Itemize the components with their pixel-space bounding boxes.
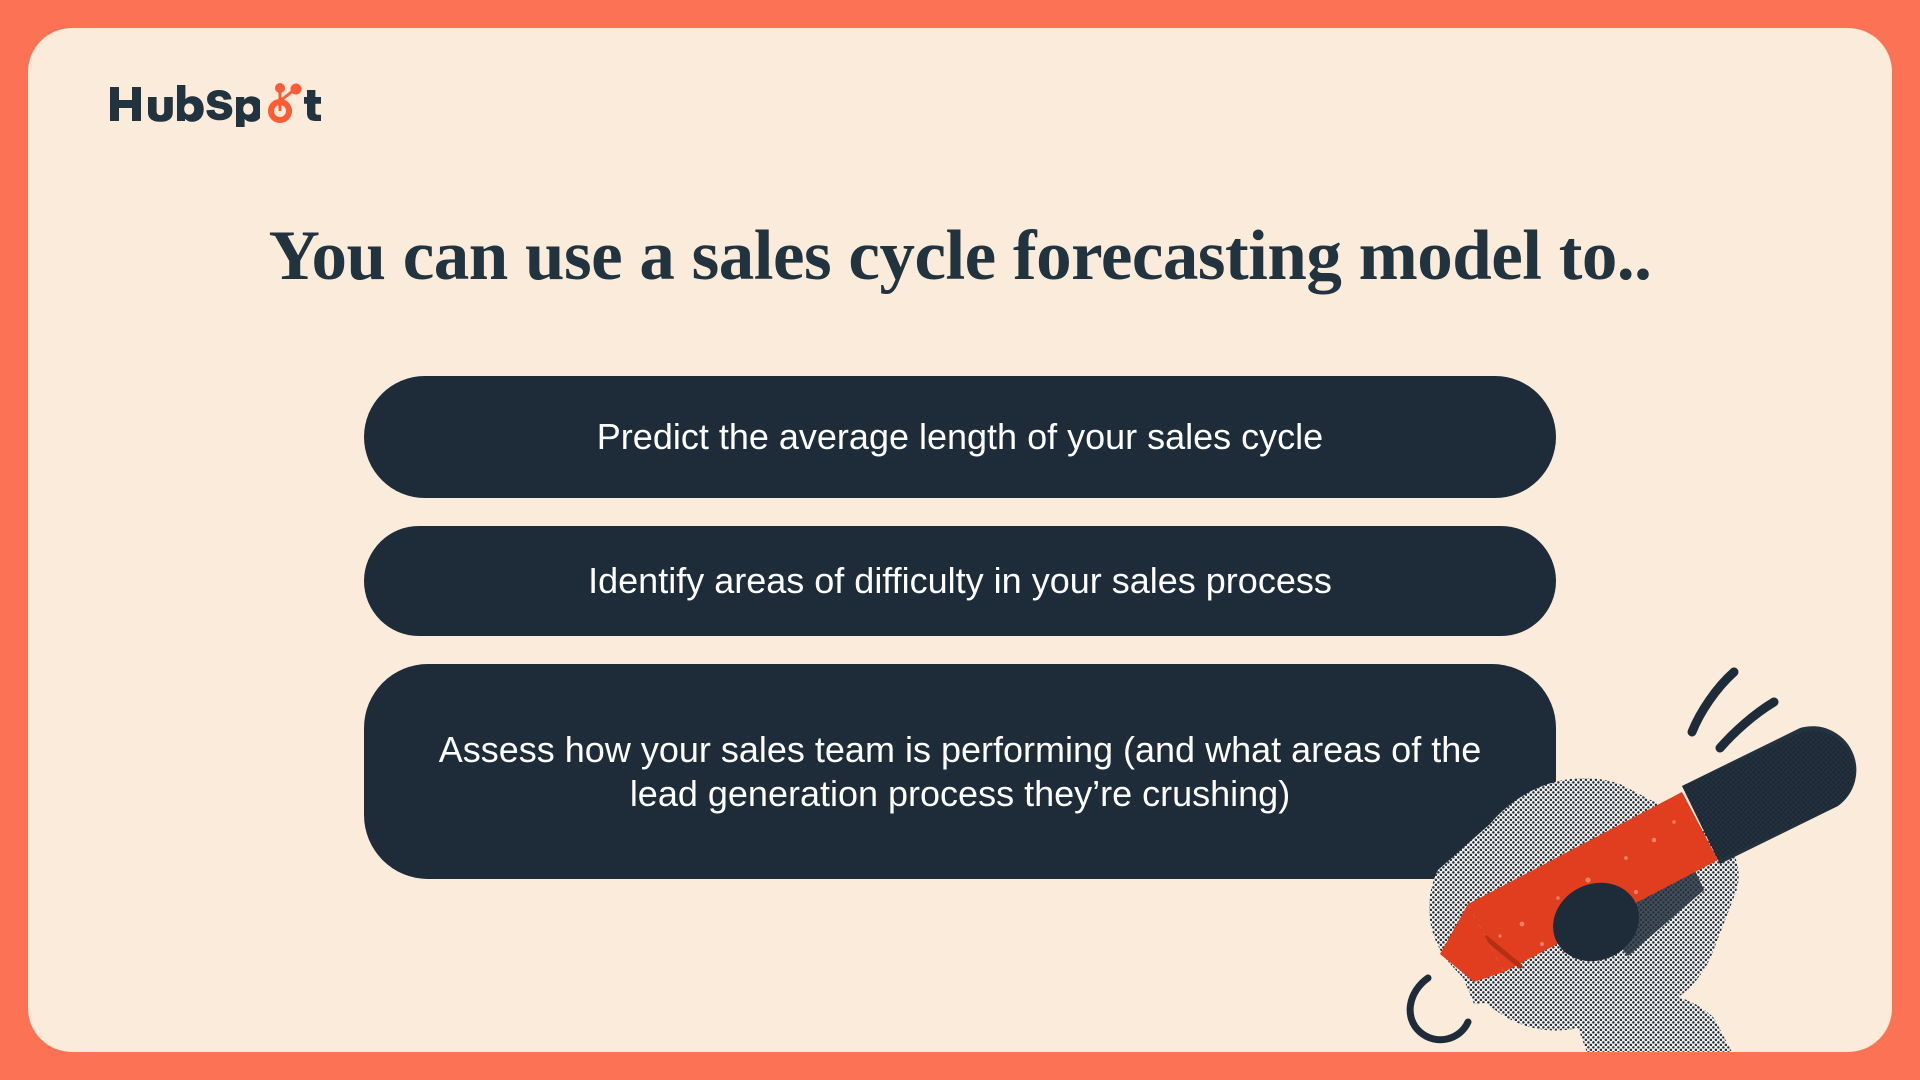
hubspot-logo-t <box>304 81 326 127</box>
benefit-pill-assess-team-performance: Assess how your sales team is performing… <box>364 664 1556 879</box>
hubspot-logo[interactable]: HubSpot <box>108 80 326 128</box>
slide-frame: HubSpot You can use a sales cycle foreca… <box>0 0 1920 1080</box>
thumb-tip <box>1540 869 1652 976</box>
wrist-curl-line <box>1410 978 1468 1040</box>
marker-nib <box>1440 904 1504 982</box>
hubspot-logo-mark <box>108 81 260 127</box>
hubspot-sprocket-icon <box>250 81 310 127</box>
benefit-pill-label: Assess how your sales team is performing… <box>412 728 1508 816</box>
content-card: HubSpot You can use a sales cycle foreca… <box>28 28 1892 1052</box>
benefit-pill-identify-difficulty: Identify areas of difficulty in your sal… <box>364 526 1556 636</box>
benefit-pill-label: Identify areas of difficulty in your sal… <box>424 559 1496 603</box>
page-title: You can use a sales cycle forecasting mo… <box>28 218 1892 295</box>
benefit-pill-list: Predict the average length of your sales… <box>28 376 1892 879</box>
benefit-pill-label: Predict the average length of your sales… <box>424 415 1496 459</box>
benefit-pill-predict-cycle-length: Predict the average length of your sales… <box>364 376 1556 498</box>
